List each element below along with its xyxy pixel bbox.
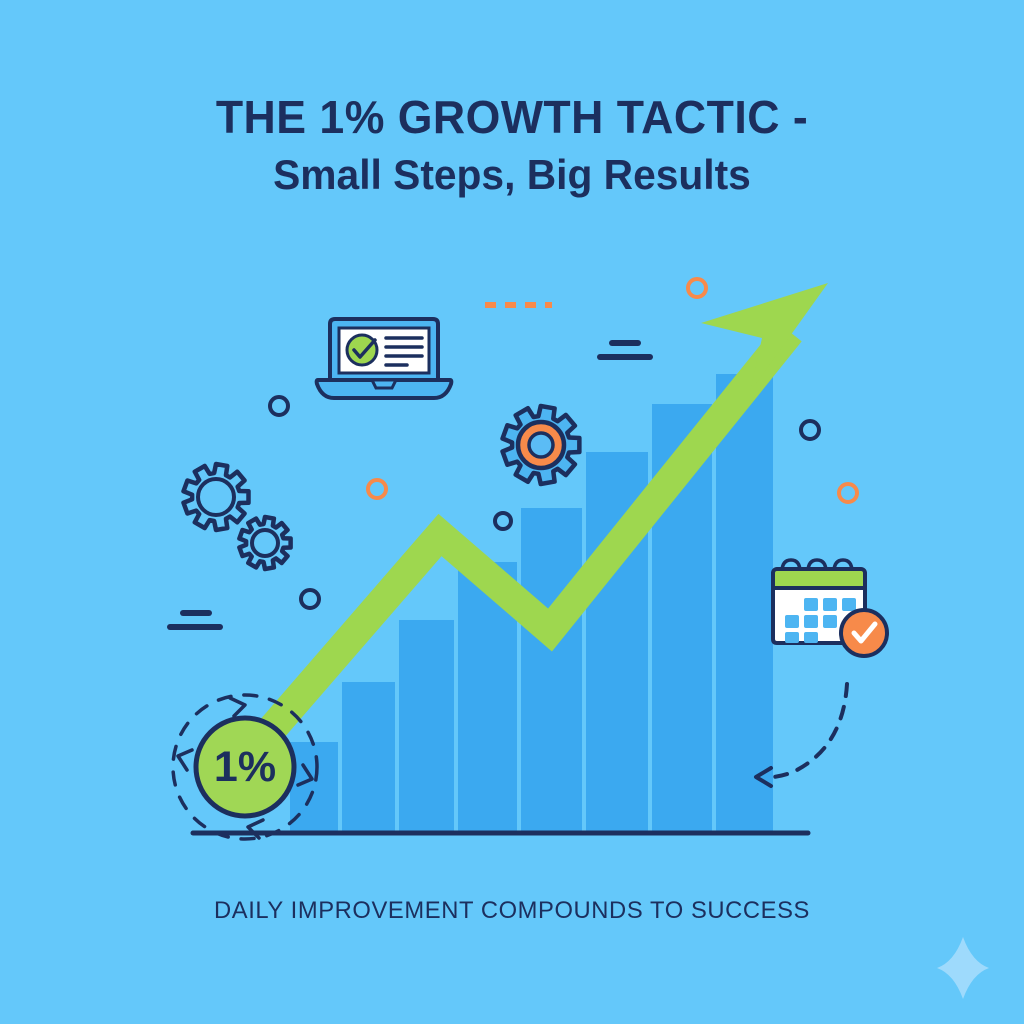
laptop-checklist-icon — [317, 319, 452, 398]
laptop-notch — [372, 380, 396, 388]
decor-circle-navy-3 — [301, 590, 319, 608]
decor-circle-navy-2 — [495, 513, 511, 529]
gear-outline-small — [239, 517, 290, 569]
check-circle-icon — [347, 335, 377, 365]
gear-outline-large-hub — [198, 479, 234, 515]
bar-8 — [716, 374, 773, 833]
gear-hub-center — [529, 433, 553, 457]
calendar-check-badge — [841, 610, 887, 656]
bar-5 — [521, 508, 582, 833]
decor-circle-navy-4 — [801, 421, 819, 439]
bar-3 — [399, 620, 454, 833]
gear-outline-small-hub — [252, 530, 278, 556]
curved-dashed-arrow-path — [766, 684, 847, 777]
infographic-artwork: 1% — [0, 0, 1024, 1024]
badge-label: 1% — [214, 743, 276, 791]
gear-large-orange-icon — [503, 406, 580, 484]
badge-ring-arrow-left — [178, 750, 192, 770]
one-percent-badge: 1% — [173, 695, 317, 839]
badge-ring-arrow-top — [230, 698, 245, 716]
bar-2 — [342, 682, 395, 833]
decor-circle-orange-3 — [839, 484, 857, 502]
gear-outline-large — [184, 464, 249, 530]
gear-pair-outline-icon — [184, 464, 291, 569]
decor-circle-orange-2 — [368, 480, 386, 498]
decor-circle-navy-1 — [270, 397, 288, 415]
calendar-check-icon — [773, 560, 887, 656]
decor-circle-orange-1 — [688, 279, 706, 297]
bar-1 — [290, 742, 338, 833]
sparkle-icon — [937, 937, 989, 999]
infographic-poster: THE 1% GROWTH TACTIC - Small Steps, Big … — [0, 0, 1024, 1024]
